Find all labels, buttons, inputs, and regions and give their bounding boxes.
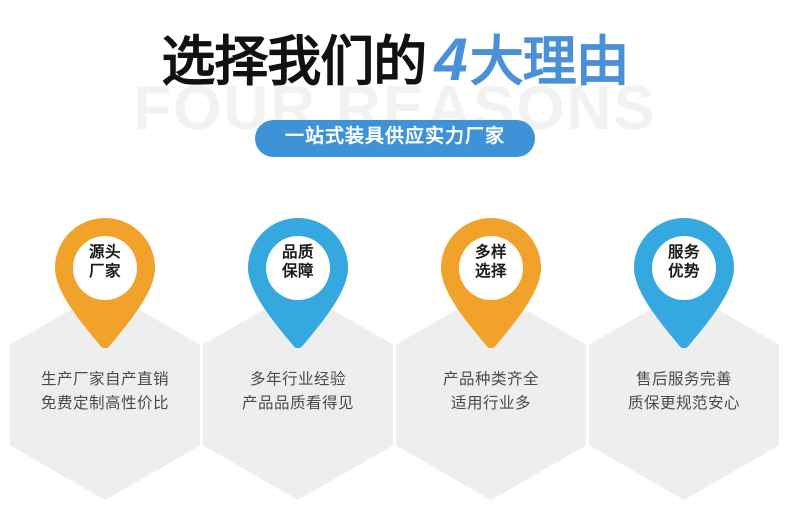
map-pin-label-2: 品质 保障 xyxy=(248,244,348,282)
map-pin-label-4: 服务 优势 xyxy=(634,244,734,282)
reason-description-3: 产品种类齐全 适用行业多 xyxy=(396,368,586,416)
desc-line1: 产品种类齐全 xyxy=(396,368,586,392)
promo-banner: FOUR REASONS 选择我们的4大理由 一站式装具供应实力厂家 源头 厂家 xyxy=(0,0,790,531)
pin-label-line1: 源头 xyxy=(55,244,155,263)
map-pin-1: 源头 厂家 xyxy=(55,218,155,348)
map-pin-label-1: 源头 厂家 xyxy=(55,244,155,282)
reason-cards: 源头 厂家 生产厂家自产直销 免费定制高性价比 品质 保障 xyxy=(0,190,790,531)
title-black-part: 选择我们的 xyxy=(161,32,426,92)
map-pin-icon-3 xyxy=(441,218,541,348)
subtitle-badge: 一站式装具供应实力厂家 xyxy=(255,120,535,157)
reason-card-2[interactable]: 品质 保障 多年行业经验 产品品质看得见 xyxy=(203,190,393,531)
reason-description-4: 售后服务完善 质保更规范安心 xyxy=(589,368,779,416)
desc-line1: 售后服务完善 xyxy=(589,368,779,392)
title-blue-part: 大理由 xyxy=(470,32,629,92)
desc-line2: 免费定制高性价比 xyxy=(10,392,200,416)
map-pin-icon-2 xyxy=(248,218,348,348)
desc-line2: 质保更规范安心 xyxy=(589,392,779,416)
desc-line2: 适用行业多 xyxy=(396,392,586,416)
title-number: 4 xyxy=(426,26,469,93)
reason-card-1[interactable]: 源头 厂家 生产厂家自产直销 免费定制高性价比 xyxy=(10,190,200,531)
pin-label-line2: 选择 xyxy=(441,263,541,282)
map-pin-2: 品质 保障 xyxy=(248,218,348,348)
map-pin-label-3: 多样 选择 xyxy=(441,244,541,282)
reason-description-2: 多年行业经验 产品品质看得见 xyxy=(203,368,393,416)
reason-card-4[interactable]: 服务 优势 售后服务完善 质保更规范安心 xyxy=(589,190,779,531)
pin-label-line1: 品质 xyxy=(248,244,348,263)
pin-label-line1: 多样 xyxy=(441,244,541,263)
desc-line2: 产品品质看得见 xyxy=(203,392,393,416)
reason-description-1: 生产厂家自产直销 免费定制高性价比 xyxy=(10,368,200,416)
pin-label-line1: 服务 xyxy=(634,244,734,263)
pin-label-line2: 保障 xyxy=(248,263,348,282)
subtitle-container: 一站式装具供应实力厂家 xyxy=(0,120,790,157)
page-title: 选择我们的4大理由 xyxy=(0,30,790,90)
banner-header: FOUR REASONS 选择我们的4大理由 一站式装具供应实力厂家 xyxy=(0,0,790,190)
desc-line1: 生产厂家自产直销 xyxy=(10,368,200,392)
map-pin-3: 多样 选择 xyxy=(441,218,541,348)
desc-line1: 多年行业经验 xyxy=(203,368,393,392)
pin-label-line2: 厂家 xyxy=(55,263,155,282)
map-pin-icon-4 xyxy=(634,218,734,348)
reason-card-3[interactable]: 多样 选择 产品种类齐全 适用行业多 xyxy=(396,190,586,531)
pin-label-line2: 优势 xyxy=(634,263,734,282)
map-pin-4: 服务 优势 xyxy=(634,218,734,348)
map-pin-icon-1 xyxy=(55,218,155,348)
